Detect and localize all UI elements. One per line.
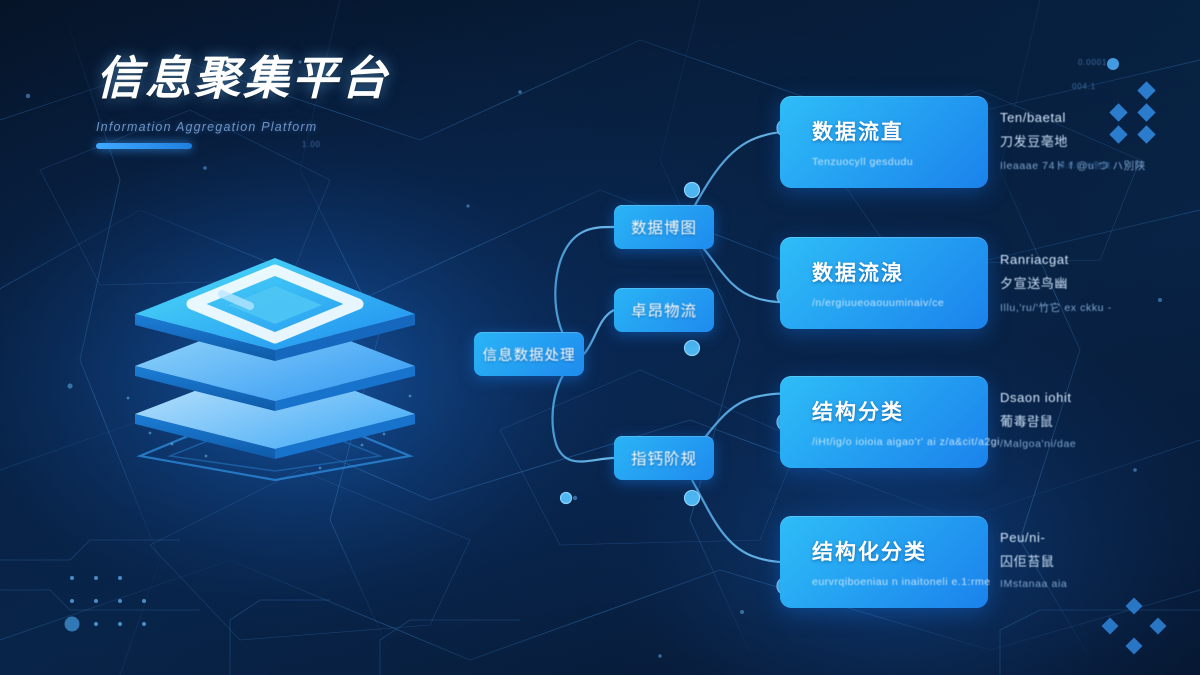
mid-node-1[interactable]: 数据博图	[614, 205, 714, 249]
card-4[interactable]: 结构化分类 eurvrqiboeniau n inaitoneli e.1:rm…	[780, 516, 988, 608]
card-4-side-text: Peu/ni- 囚佢苔鼠 IMstanaa aia	[1000, 530, 1170, 590]
center-node-label: 信息数据处理	[483, 344, 576, 365]
corner-code-3: 1.00	[302, 140, 321, 149]
card-2-side-text: Ranriacgat 夕宣送鸟幽 Illu,'ru/'竹它 ex ckku -	[1000, 252, 1170, 315]
mid-node-2-label: 卓昂物流	[631, 299, 697, 321]
isometric-layer-stack	[110, 228, 440, 488]
card-1-title: 数据流直	[812, 116, 988, 146]
card-2-subtitle: /n/ergiuueoaouuminaiv/ce	[812, 297, 988, 309]
card-2-side-line2: 夕宣送鸟幽	[1000, 273, 1170, 292]
card-1-side-line1: Ten/baetal	[1000, 110, 1170, 125]
mid-node-3[interactable]: 指钙阶规	[614, 436, 714, 480]
mid-node-3-label: 指钙阶规	[631, 447, 697, 469]
card-1-subtitle: Tenzuocyll gesdudu	[812, 156, 988, 168]
corner-code-4: 0.0.0 ハ別陕	[1060, 160, 1111, 171]
card-2[interactable]: 数据流湶 /n/ergiuueoaouuminaiv/ce	[780, 237, 988, 329]
card-3[interactable]: 结构分类 /iHt/ig/o ioioia aigao'r' ai z/a&ci…	[780, 376, 988, 468]
corner-code-2: 004.1	[1072, 82, 1096, 91]
card-2-side-line1: Ranriacgat	[1000, 252, 1170, 267]
card-1-side-line2: 刀发豆亳地	[1000, 131, 1170, 150]
mid-node-2[interactable]: 卓昂物流	[614, 288, 714, 332]
center-node[interactable]: 信息数据处理	[474, 332, 584, 376]
page-title: 信息聚集平台	[96, 42, 390, 108]
title-underline	[96, 143, 192, 149]
card-4-side-line2: 囚佢苔鼠	[1000, 551, 1170, 570]
card-4-side-line1: Peu/ni-	[1000, 530, 1170, 545]
card-3-side-text: Dsaon iohit 葡毒럄鼠 /Malgoa'ni/dae	[1000, 390, 1170, 450]
card-1[interactable]: 数据流直 Tenzuocyll gesdudu	[780, 96, 988, 188]
page-subtitle: Information Aggregation Platform	[96, 120, 390, 134]
card-3-title: 结构分类	[812, 396, 988, 426]
card-3-side-line1: Dsaon iohit	[1000, 390, 1170, 405]
card-4-title: 结构化分类	[812, 536, 988, 566]
card-2-side-line3: Illu,'ru/'竹它 ex ckku -	[1000, 300, 1170, 315]
slide-canvas: 信息聚集平台 Information Aggregation Platform	[0, 0, 1200, 675]
corner-code-1: 0.0001	[1078, 58, 1107, 67]
card-2-title: 数据流湶	[812, 257, 988, 287]
title-block: 信息聚集平台 Information Aggregation Platform	[96, 42, 390, 149]
card-3-side-line2: 葡毒럄鼠	[1000, 411, 1170, 430]
card-4-subtitle: eurvrqiboeniau n inaitoneli e.1:rme	[812, 576, 988, 588]
card-4-side-line3: IMstanaa aia	[1000, 578, 1170, 590]
card-3-subtitle: /iHt/ig/o ioioia aigao'r' ai z/a&cit/a2g…	[812, 436, 988, 448]
mid-node-1-label: 数据博图	[631, 216, 697, 238]
card-3-side-line3: /Malgoa'ni/dae	[1000, 438, 1170, 450]
